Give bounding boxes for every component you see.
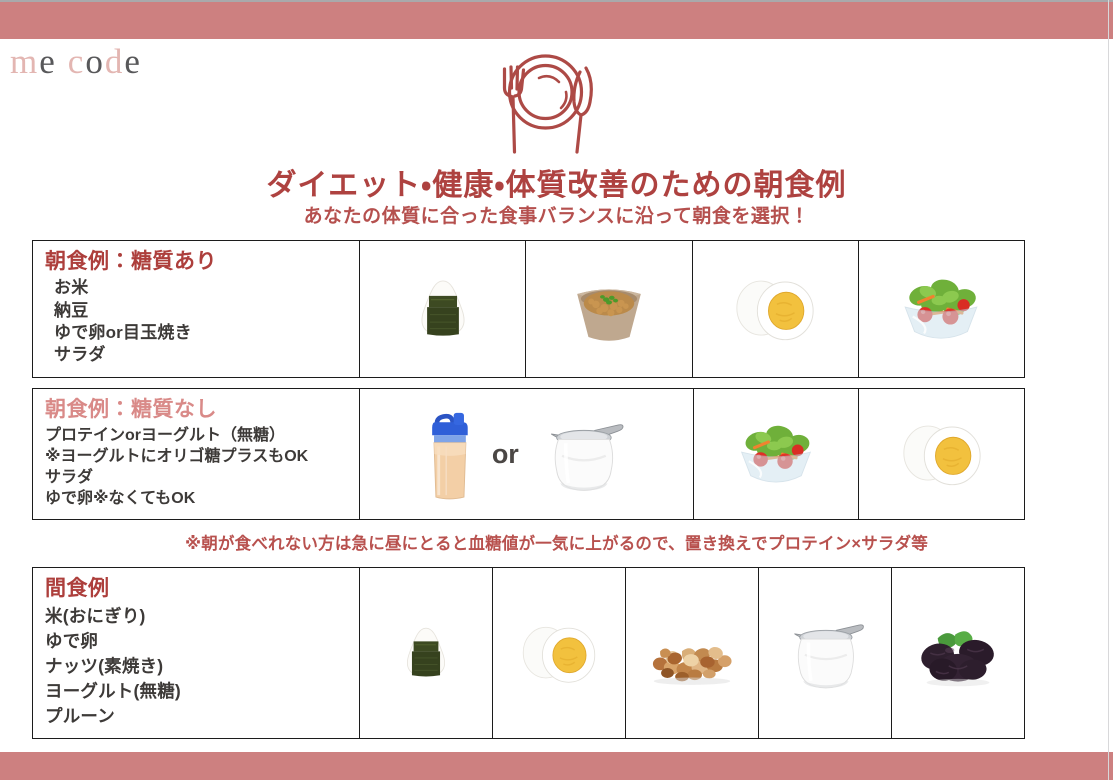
section-breakfast-without-carbs: 朝食例：糖質なし プロテインorヨーグルト（無糖） ※ヨーグルトにオリゴ糖プラス… bbox=[32, 388, 1025, 520]
infographic-page: mecode ダイエット・健康・体質改善のための朝食例 あなたの体質に合った食事… bbox=[0, 0, 1113, 780]
section-3-title: 間食例 bbox=[45, 577, 359, 601]
section-3-image-cells bbox=[360, 568, 1024, 738]
logo-char-c: c bbox=[68, 42, 86, 81]
boiled-egg-image bbox=[493, 568, 626, 738]
natto-bowl-image bbox=[526, 241, 692, 377]
bottom-band bbox=[0, 752, 1113, 780]
logo-char-e: e bbox=[39, 42, 57, 81]
warning-note: ※朝が食べれない方は急に昼にとると血糖値が一気に上がるので、置き換えでプロテイン… bbox=[0, 530, 1113, 554]
list-item: ゆで卵or目玉焼き bbox=[45, 322, 359, 344]
list-item: プルーン bbox=[45, 704, 359, 729]
page-right-edge bbox=[1108, 0, 1109, 780]
onigiri-image bbox=[360, 568, 493, 738]
list-item: ゆで卵 bbox=[45, 629, 359, 654]
list-item: 納豆 bbox=[45, 300, 359, 322]
list-item: ナッツ(素焼き) bbox=[45, 654, 359, 679]
logo-char-o: o bbox=[85, 42, 105, 81]
logo-char-m: m bbox=[10, 42, 39, 81]
list-item: サラダ bbox=[45, 344, 359, 366]
list-item: ゆで卵※なくてもOK bbox=[45, 488, 359, 509]
list-item: ヨーグルト(無糖) bbox=[45, 679, 359, 704]
section-breakfast-with-carbs: 朝食例：糖質あり お米 納豆 ゆで卵or目玉焼き サラダ bbox=[32, 240, 1025, 378]
section-2-text-cell: 朝食例：糖質なし プロテインorヨーグルト（無糖） ※ヨーグルトにオリゴ糖プラス… bbox=[33, 389, 360, 519]
onigiri-image bbox=[360, 241, 526, 377]
section-1-item-list: お米 納豆 ゆで卵or目玉焼き サラダ bbox=[45, 277, 359, 367]
boiled-egg-image bbox=[859, 389, 1024, 519]
protein-or-yogurt-cell: or bbox=[360, 389, 694, 519]
section-2-image-cells: or bbox=[360, 389, 1024, 519]
section-3-item-list: 米(おにぎり) ゆで卵 ナッツ(素焼き) ヨーグルト(無糖) プルーン bbox=[45, 604, 359, 728]
section-1-title: 朝食例：糖質あり bbox=[45, 250, 359, 274]
list-item: お米 bbox=[45, 277, 359, 299]
list-item: サラダ bbox=[45, 467, 359, 488]
yogurt-jar-image bbox=[533, 406, 633, 502]
brand-logo: mecode bbox=[10, 44, 142, 79]
section-3-text-cell: 間食例 米(おにぎり) ゆで卵 ナッツ(素焼き) ヨーグルト(無糖) プルーン bbox=[33, 568, 360, 738]
or-separator-label: or bbox=[492, 439, 519, 470]
list-item: プロテインorヨーグルト（無糖） bbox=[45, 425, 359, 446]
section-2-item-list: プロテインorヨーグルト（無糖） ※ヨーグルトにオリゴ糖プラスもOK サラダ ゆ… bbox=[45, 425, 359, 509]
yogurt-jar-image bbox=[759, 568, 892, 738]
logo-char-e2: e bbox=[124, 42, 142, 81]
salad-bowl-image bbox=[859, 241, 1024, 377]
prunes-image bbox=[892, 568, 1024, 738]
protein-shaker-image bbox=[420, 405, 478, 503]
boiled-egg-image bbox=[693, 241, 859, 377]
top-band bbox=[0, 2, 1113, 39]
section-1-image-cells bbox=[360, 241, 1024, 377]
section-snack-examples: 間食例 米(おにぎり) ゆで卵 ナッツ(素焼き) ヨーグルト(無糖) プルーン bbox=[32, 567, 1025, 739]
list-item: 米(おにぎり) bbox=[45, 604, 359, 629]
mixed-nuts-image bbox=[626, 568, 759, 738]
section-1-text-cell: 朝食例：糖質あり お米 納豆 ゆで卵or目玉焼き サラダ bbox=[33, 241, 360, 377]
logo-char-d: d bbox=[105, 42, 125, 81]
page-subtitle: あなたの体質に合った食事バランスに沿って朝食を選択！ bbox=[0, 201, 1113, 228]
plate-fork-knife-icon bbox=[478, 48, 613, 158]
page-title: ダイエット・健康・体質改善のための朝食例 bbox=[0, 160, 1113, 204]
salad-bowl-image bbox=[694, 389, 860, 519]
section-2-title: 朝食例：糖質なし bbox=[45, 398, 359, 422]
list-item: ※ヨーグルトにオリゴ糖プラスもOK bbox=[45, 446, 359, 467]
